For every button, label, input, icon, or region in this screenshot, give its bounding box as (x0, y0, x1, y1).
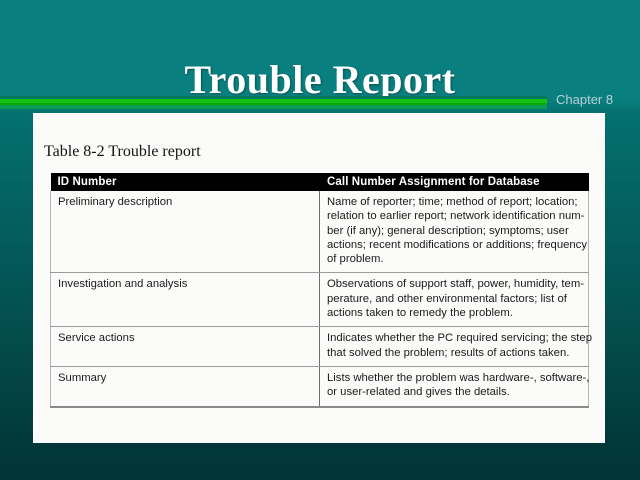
cell-text-line: ber (if any); general description; sympt… (327, 224, 582, 238)
accent-stripe-dark-bottom (0, 105, 547, 109)
chapter-label: Chapter 8 (556, 92, 613, 107)
accent-divider-bar (0, 96, 547, 109)
table-row: Preliminary description Name of reporter… (51, 191, 589, 273)
cell-assignment: Indicates whether the PC required servic… (320, 327, 589, 367)
cell-assignment: Observations of support staff, power, hu… (320, 273, 589, 327)
trouble-report-table: ID Number Call Number Assignment for Dat… (50, 173, 589, 408)
cell-text-line: Indicates whether the PC required servic… (327, 331, 582, 345)
table-header: ID Number Call Number Assignment for Dat… (51, 173, 589, 191)
cell-text-line: Name of reporter; time; method of report… (327, 195, 582, 209)
cell-text-line: of problem. (327, 252, 582, 266)
cell-text-line: that solved the problem; results of acti… (327, 346, 582, 360)
presentation-slide: Trouble Report Chapter 8 Table 8-2 Troub… (0, 0, 640, 480)
column-header-id-number: ID Number (51, 173, 320, 191)
cell-text-line: or user-related and gives the details. (327, 385, 582, 399)
cell-assignment: Name of reporter; time; method of report… (320, 191, 589, 273)
cell-id-number: Summary (51, 366, 320, 406)
cell-text-line: Lists whether the problem was hardware-,… (327, 371, 582, 385)
cell-assignment: Lists whether the problem was hardware-,… (320, 366, 589, 406)
table-header-row: ID Number Call Number Assignment for Dat… (51, 173, 589, 191)
table-caption: Table 8-2 Trouble report (44, 143, 201, 161)
cell-id-number: Service actions (51, 327, 320, 367)
cell-text-line: Observations of support staff, power, hu… (327, 277, 582, 291)
cell-text-line: actions taken to remedy the problem. (327, 306, 582, 320)
cell-text-line: actions; recent modifications or additio… (327, 238, 582, 252)
table-row: Summary Lists whether the problem was ha… (51, 366, 589, 406)
table-row: Investigation and analysis Observations … (51, 273, 589, 327)
cell-text-line: relation to earlier report; network iden… (327, 209, 582, 223)
cell-id-number: Preliminary description (51, 191, 320, 273)
cell-text-line: perature, and other environmental factor… (327, 292, 582, 306)
table-body: Preliminary description Name of reporter… (51, 191, 589, 407)
content-panel: Table 8-2 Trouble report ID Number Call … (33, 113, 605, 443)
table-row: Service actions Indicates whether the PC… (51, 327, 589, 367)
column-header-call-number-assignment: Call Number Assignment for Database (320, 173, 589, 191)
cell-id-number: Investigation and analysis (51, 273, 320, 327)
